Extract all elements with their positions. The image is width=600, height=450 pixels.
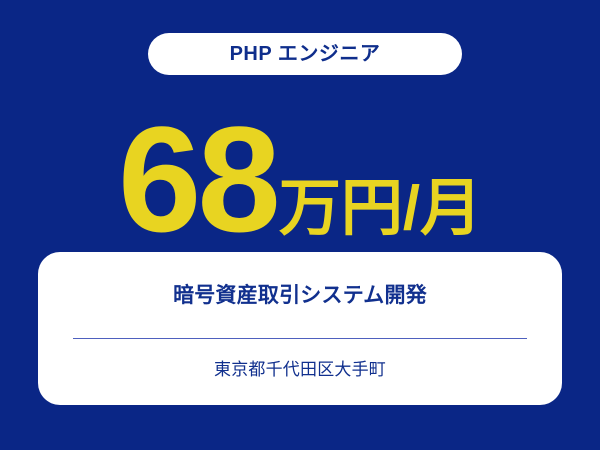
card-divider [73,338,527,339]
job-offer-card: PHP エンジニア 68 万円/月 暗号資産取引システム開発 東京都千代田区大手… [0,0,600,450]
price-row: 68 万円/月 [0,104,600,232]
price-amount: 68 [118,104,277,254]
role-badge: PHP エンジニア [148,33,462,75]
project-info-card: 暗号資産取引システム開発 東京都千代田区大手町 [38,252,562,405]
project-location: 東京都千代田区大手町 [214,361,386,378]
project-title: 暗号資産取引システム開発 [173,285,427,306]
role-badge-label: PHP エンジニア [230,44,381,64]
price-unit: 万円/月 [279,178,482,240]
